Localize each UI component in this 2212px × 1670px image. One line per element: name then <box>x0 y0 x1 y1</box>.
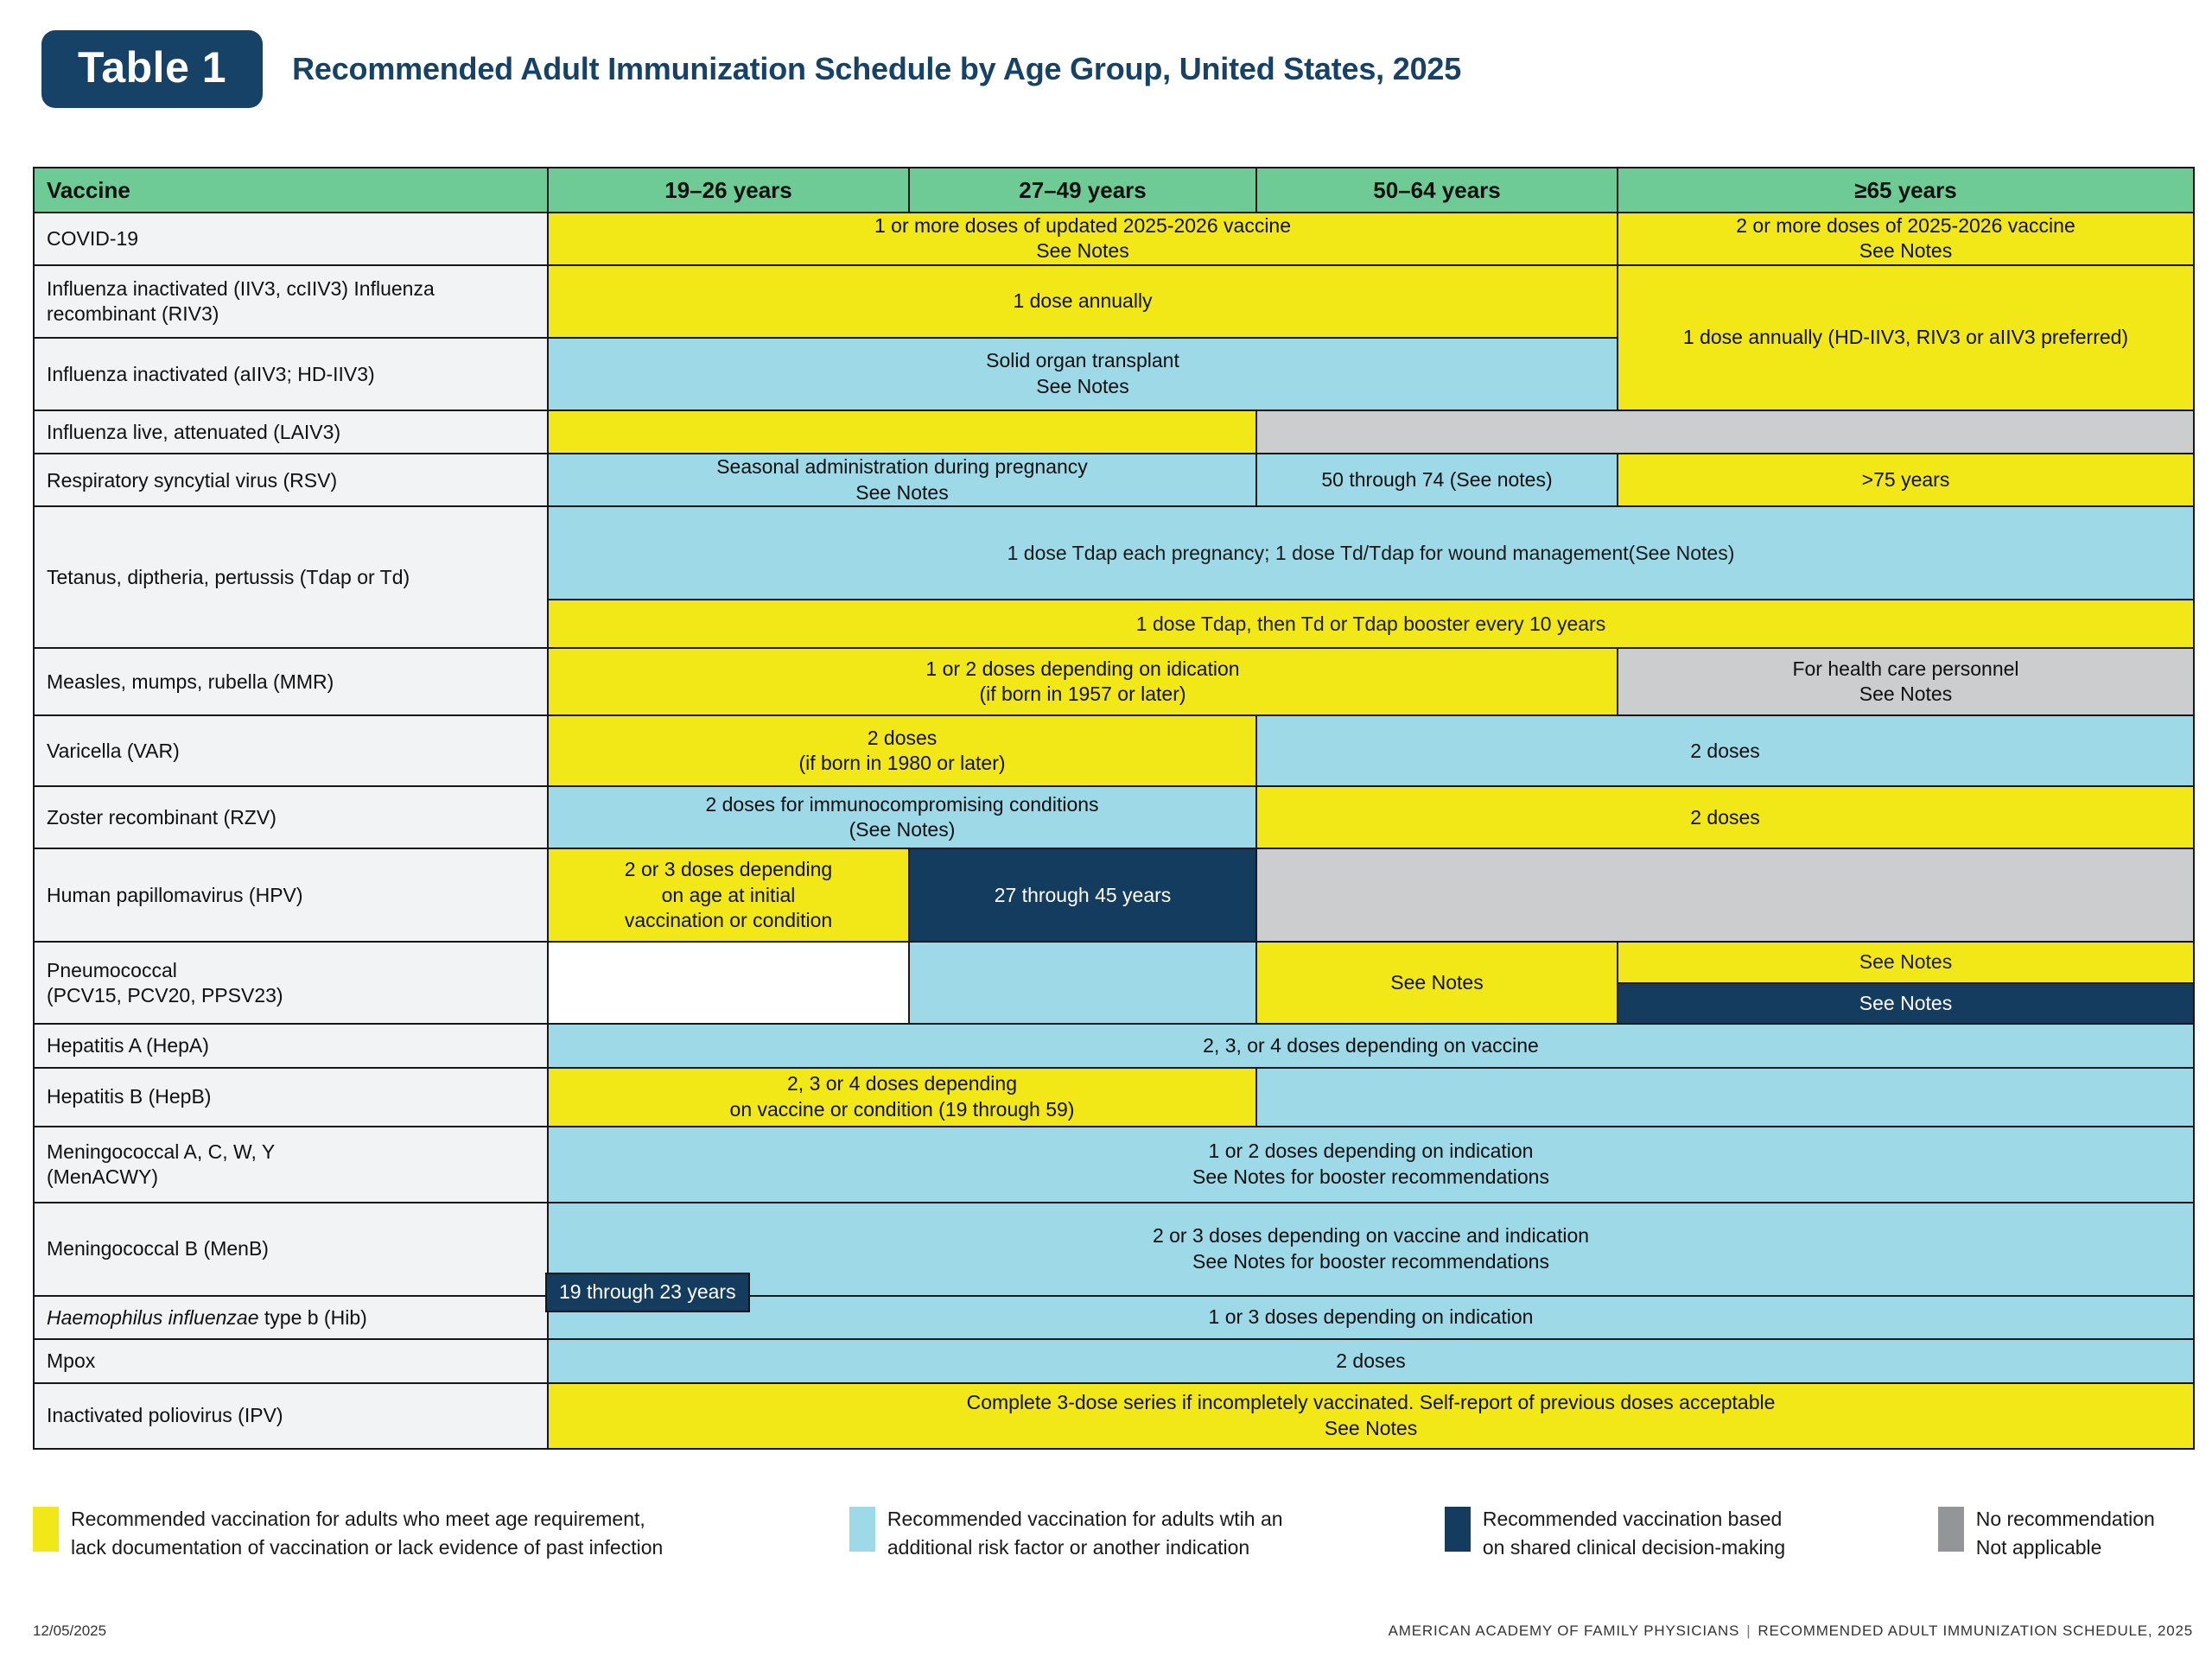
schedule-cell: 2 doses(if born in 1980 or later) <box>548 715 1256 786</box>
legend-navy-line2: on shared clinical decision-making <box>1483 1533 1785 1562</box>
legend-item-yellow: Recommended vaccination for adults who m… <box>33 1505 849 1561</box>
schedule-cell: See Notes <box>1256 942 1618 1024</box>
schedule-cell <box>1256 1068 2194 1127</box>
cell-text-line: See Notes <box>549 238 1617 264</box>
table-body: COVID-191 or more doses of updated 2025-… <box>34 213 2194 1449</box>
cell-text-line: For health care personnel <box>1618 657 2193 682</box>
legend-label-navy: Recommended vaccination based on shared … <box>1483 1505 1785 1561</box>
cell-text-line: >75 years <box>1618 467 2193 492</box>
vaccine-name-line: Mpox <box>47 1349 537 1374</box>
schedule-cell-top: See Notes <box>1618 943 2193 983</box>
table-row: Hepatitis B (HepB)2, 3 or 4 doses depend… <box>34 1068 2194 1127</box>
table-row: Measles, mumps, rubella (MMR)1 or 2 dose… <box>34 648 2194 715</box>
vaccine-name-cell: Varicella (VAR) <box>34 715 548 786</box>
cell-text-line: 1 or 2 doses depending on indication <box>549 1139 2193 1164</box>
schedule-cell: 2 doses <box>548 1339 2194 1383</box>
legend-navy-line1: Recommended vaccination based <box>1483 1505 1785 1533</box>
vaccine-name-line: Influenza inactivated (aIIV3; HD-IIV3) <box>47 362 537 387</box>
legend: Recommended vaccination for adults who m… <box>33 1505 2193 1561</box>
schedule-cell: 2 or 3 doses dependingon age at initialv… <box>548 848 909 942</box>
legend-gray-line1: No recommendation <box>1976 1505 2155 1533</box>
schedule-cell: 1 or 2 doses depending on idication(if b… <box>548 648 1618 715</box>
vaccine-name-cell: Mpox <box>34 1339 548 1383</box>
table-header-row: Vaccine 19–26 years 27–49 years 50–64 ye… <box>34 168 2194 213</box>
legend-label-gray: No recommendation Not applicable <box>1976 1505 2155 1561</box>
column-header-50-64: 50–64 years <box>1256 168 1618 213</box>
cell-text-line: Complete 3-dose series if incompletely v… <box>549 1390 2193 1415</box>
vaccine-name-line: Human papillomavirus (HPV) <box>47 883 537 908</box>
vaccine-name-line: Tetanus, diptheria, pertussis (Tdap or T… <box>47 565 537 590</box>
table-number-badge: Table 1 <box>41 30 263 108</box>
legend-item-blue: Recommended vaccination for adults wtih … <box>849 1505 1445 1561</box>
table-row: Influenza inactivated (IIV3, ccIIV3) Inf… <box>34 265 2194 338</box>
vaccine-name-cell: Meningococcal A, C, W, Y(MenACWY) <box>34 1127 548 1203</box>
table-row: COVID-191 or more doses of updated 2025-… <box>34 213 2194 265</box>
cell-text-line: 27 through 45 years <box>910 883 1255 908</box>
cell-text-line: 50 through 74 (See notes) <box>1257 467 1617 492</box>
vaccine-name-line: Hepatitis B (HepB) <box>47 1084 537 1109</box>
page-header: Table 1 Recommended Adult Immunization S… <box>0 0 2212 112</box>
cell-text-line: See Notes <box>549 1416 2193 1441</box>
cell-text-line: 2 or 3 doses depending <box>549 857 908 882</box>
cell-text-line: (See Notes) <box>549 817 1255 842</box>
schedule-cell: For health care personnelSee Notes <box>1618 648 2194 715</box>
vaccine-name-cell: Meningococcal B (MenB) <box>34 1203 548 1296</box>
vaccine-name-cell: Influenza inactivated (aIIV3; HD-IIV3) <box>34 338 548 410</box>
cell-text-line: vaccination or condition <box>549 908 908 933</box>
schedule-cell: 1 or more doses of updated 2025-2026 vac… <box>548 213 1618 265</box>
schedule-cell-bottom: 1 dose Tdap, then Td or Tdap booster eve… <box>549 600 2193 647</box>
cell-text-line: (if born in 1957 or later) <box>549 682 1617 707</box>
schedule-cell <box>548 942 909 1024</box>
age-range-chip: 19 through 23 years <box>545 1273 750 1312</box>
cell-text-line: (if born in 1980 or later) <box>549 751 1255 776</box>
table-row: Inactivated poliovirus (IPV)Complete 3-d… <box>34 1383 2194 1449</box>
footer-separator: | <box>1746 1622 1751 1639</box>
cell-text-line: See Notes <box>1859 949 1952 975</box>
schedule-cell: 2 or 3 doses depending on vaccine and in… <box>548 1203 2194 1296</box>
footer-doc: RECOMMENDED ADULT IMMUNIZATION SCHEDULE,… <box>1758 1622 2193 1639</box>
footer-date: 12/05/2025 <box>33 1622 106 1640</box>
cell-text-line: 2 or more doses of 2025-2026 vaccine <box>1618 213 2193 238</box>
legend-blue-line2: additional risk factor or another indica… <box>887 1533 1283 1562</box>
vaccine-name-cell: Hepatitis B (HepB) <box>34 1068 548 1127</box>
table-row: Mpox2 doses <box>34 1339 2194 1383</box>
legend-swatch-navy-icon <box>1445 1507 1471 1552</box>
schedule-cell-split-65: See NotesSee Notes <box>1618 942 2194 1024</box>
footer-attribution: AMERICAN ACADEMY OF FAMILY PHYSICIANS|RE… <box>1389 1622 2193 1640</box>
cell-text-line: 1 dose annually <box>549 289 1617 314</box>
vaccine-name-line: COVID-19 <box>47 226 537 251</box>
legend-swatch-gray-icon <box>1938 1507 1964 1552</box>
schedule-cell: Complete 3-dose series if incompletely v… <box>548 1383 2194 1449</box>
vaccine-name-cell: Pneumococcal(PCV15, PCV20, PPSV23) <box>34 942 548 1024</box>
cell-text-line: See Notes <box>1618 238 2193 264</box>
vaccine-name-line: Hepatitis A (HepA) <box>47 1033 537 1058</box>
legend-swatch-blue-icon <box>849 1507 875 1552</box>
vaccine-name-rest: type b (Hib) <box>259 1306 367 1329</box>
table-row: Influenza live, attenuated (LAIV3) <box>34 410 2194 454</box>
column-header-vaccine: Vaccine <box>34 168 548 213</box>
cell-text-line: Seasonal administration during pregnancy <box>549 454 1255 479</box>
legend-yellow-line2: lack documentation of vaccination or lac… <box>71 1533 663 1562</box>
legend-label-blue: Recommended vaccination for adults wtih … <box>887 1505 1283 1561</box>
schedule-cell-top: 1 dose Tdap each pregnancy; 1 dose Td/Td… <box>549 507 2193 600</box>
immunization-schedule-table: Vaccine 19–26 years 27–49 years 50–64 ye… <box>33 167 2195 1450</box>
schedule-cell: 1 dose annually <box>548 265 1618 338</box>
cell-text-line: See Notes <box>1618 682 2193 707</box>
cell-text-line: See Notes <box>549 480 1255 505</box>
vaccine-name-cell: Influenza inactivated (IIV3, ccIIV3) Inf… <box>34 265 548 338</box>
vaccine-name-cell: Influenza live, attenuated (LAIV3) <box>34 410 548 454</box>
cell-text-line: 2 doses for immunocompromising condition… <box>549 792 1255 817</box>
cell-text-line: 1 dose annually (HD-IIV3, RIV3 or aIIV3 … <box>1618 325 2193 350</box>
cell-text-line: See Notes for booster recommendations <box>1192 1249 1549 1274</box>
schedule-cell: 1 or 3 doses depending on indication <box>548 1296 2194 1340</box>
table-row: Respiratory syncytial virus (RSV)Seasona… <box>34 454 2194 506</box>
schedule-cell <box>1256 848 2194 942</box>
vaccine-name-line: (MenACWY) <box>47 1165 537 1190</box>
schedule-cell: 50 through 74 (See notes) <box>1256 454 1618 506</box>
vaccine-name-line: Meningococcal A, C, W, Y <box>47 1140 537 1165</box>
schedule-cell: 2 doses <box>1256 786 2194 848</box>
schedule-cell: 1 dose annually (HD-IIV3, RIV3 or aIIV3 … <box>1618 265 2194 410</box>
table-row: Varicella (VAR)2 doses(if born in 1980 o… <box>34 715 2194 786</box>
legend-label-yellow: Recommended vaccination for adults who m… <box>71 1505 663 1561</box>
vaccine-name-line: Meningococcal B (MenB) <box>47 1236 537 1261</box>
cell-text-line: See Notes <box>549 374 1617 399</box>
table-row: Meningococcal A, C, W, Y(MenACWY)1 or 2 … <box>34 1127 2194 1203</box>
vaccine-name-italic: Haemophilus influenzae <box>47 1306 259 1329</box>
cell-text-line: 1 or more doses of updated 2025-2026 vac… <box>549 213 1617 238</box>
column-header-27-49: 27–49 years <box>909 168 1256 213</box>
cell-text-line: 1 or 3 doses depending on indication <box>549 1305 2193 1330</box>
page-title: Recommended Adult Immunization Schedule … <box>292 51 1461 87</box>
cell-text-line: 2, 3 or 4 doses depending <box>549 1071 1255 1096</box>
legend-item-gray: No recommendation Not applicable <box>1938 1505 2193 1561</box>
schedule-cell: 2 or more doses of 2025-2026 vaccineSee … <box>1618 213 2194 265</box>
vaccine-name-line: Zoster recombinant (RZV) <box>47 805 537 830</box>
cell-text-line: on vaccine or condition (19 through 59) <box>549 1097 1255 1122</box>
table-row: Meningococcal B (MenB)2 or 3 doses depen… <box>34 1203 2194 1296</box>
footer-org: AMERICAN ACADEMY OF FAMILY PHYSICIANS <box>1389 1622 1740 1639</box>
column-header-65plus: ≥65 years <box>1618 168 2194 213</box>
cell-text-line: on age at initial <box>549 883 908 908</box>
cell-text-line: See Notes <box>1257 970 1617 995</box>
vaccine-name-line: (PCV15, PCV20, PPSV23) <box>47 983 537 1008</box>
legend-blue-line1: Recommended vaccination for adults wtih … <box>887 1505 1283 1533</box>
schedule-cell <box>1256 410 2194 454</box>
cell-text-line: 1 dose Tdap each pregnancy; 1 dose Td/Td… <box>1007 541 1629 566</box>
schedule-cell <box>548 410 1256 454</box>
vaccine-name-cell: COVID-19 <box>34 213 548 265</box>
legend-yellow-line1: Recommended vaccination for adults who m… <box>71 1505 663 1533</box>
schedule-cell: Solid organ transplantSee Notes <box>548 338 1618 410</box>
table-row: Haemophilus influenzae type b (Hib)1 or … <box>34 1296 2194 1340</box>
cell-text-line: See Notes for booster recommendations <box>549 1165 2193 1190</box>
schedule-cell: >75 years <box>1618 454 2194 506</box>
vaccine-name-line: Influenza inactivated (IIV3, ccIIV3) Inf… <box>47 276 537 326</box>
schedule-cell: Seasonal administration during pregnancy… <box>548 454 1256 506</box>
cell-text-line: (See Notes) <box>1629 541 1735 566</box>
schedule-cell: 2, 3, or 4 doses depending on vaccine <box>548 1024 2194 1068</box>
schedule-cell: 2 doses for immunocompromising condition… <box>548 786 1256 848</box>
cell-text-line: 1 dose Tdap, then Td or Tdap booster eve… <box>1136 612 1605 637</box>
cell-text-line: 2 doses <box>1257 739 2193 764</box>
cell-text-line: 2 doses <box>1257 805 2193 830</box>
legend-swatch-yellow-icon <box>33 1507 59 1552</box>
column-header-19-26: 19–26 years <box>548 168 909 213</box>
legend-item-navy: Recommended vaccination based on shared … <box>1445 1505 1938 1561</box>
vaccine-name-line: Respiratory syncytial virus (RSV) <box>47 468 537 493</box>
vaccine-name-cell: Zoster recombinant (RZV) <box>34 786 548 848</box>
schedule-cell: 2, 3 or 4 doses dependingon vaccine or c… <box>548 1068 1256 1127</box>
cell-text-line: 2 doses <box>549 726 1255 751</box>
cell-text-line: Solid organ transplant <box>549 348 1617 373</box>
vaccine-name-cell: Measles, mumps, rubella (MMR) <box>34 648 548 715</box>
vaccine-name-cell: Inactivated poliovirus (IPV) <box>34 1383 548 1449</box>
cell-text-line: 2 or 3 doses depending on vaccine and in… <box>1153 1223 1589 1248</box>
vaccine-name-cell: Human papillomavirus (HPV) <box>34 848 548 942</box>
vaccine-name-line: Pneumococcal <box>47 958 537 983</box>
vaccine-name-line: Inactivated poliovirus (IPV) <box>47 1403 537 1428</box>
schedule-cell: 2 doses <box>1256 715 2194 786</box>
table-row: Tetanus, diptheria, pertussis (Tdap or T… <box>34 506 2194 648</box>
schedule-cell-bottom: See Notes <box>1618 984 2193 1023</box>
vaccine-name-cell: Hepatitis A (HepA) <box>34 1024 548 1068</box>
table-row: Hepatitis A (HepA)2, 3, or 4 doses depen… <box>34 1024 2194 1068</box>
table-row: Zoster recombinant (RZV)2 doses for immu… <box>34 786 2194 848</box>
schedule-cell: 1 or 2 doses depending on indicationSee … <box>548 1127 2194 1203</box>
vaccine-name-line: Influenza live, attenuated (LAIV3) <box>47 420 537 445</box>
table-row: Pneumococcal(PCV15, PCV20, PPSV23)See No… <box>34 942 2194 1024</box>
schedule-cell: 27 through 45 years <box>909 848 1256 942</box>
cell-text-line: 2 doses <box>549 1349 2193 1374</box>
cell-text-line: 2, 3, or 4 doses depending on vaccine <box>549 1033 2193 1058</box>
cell-text-line: See Notes <box>1859 991 1952 1016</box>
vaccine-name-cell: Haemophilus influenzae type b (Hib) <box>34 1296 548 1340</box>
vaccine-name-cell: Respiratory syncytial virus (RSV) <box>34 454 548 506</box>
page-footer: 12/05/2025 AMERICAN ACADEMY OF FAMILY PH… <box>33 1622 2193 1640</box>
schedule-cell-split: 1 dose Tdap each pregnancy; 1 dose Td/Td… <box>548 506 2194 648</box>
vaccine-name-line: Varicella (VAR) <box>47 739 537 764</box>
schedule-cell <box>909 942 1256 1024</box>
vaccine-name-cell: Tetanus, diptheria, pertussis (Tdap or T… <box>34 506 548 648</box>
cell-text-line: 1 or 2 doses depending on idication <box>549 657 1617 682</box>
legend-gray-line2: Not applicable <box>1976 1533 2155 1562</box>
table-row: Human papillomavirus (HPV)2 or 3 doses d… <box>34 848 2194 942</box>
vaccine-name-line: Measles, mumps, rubella (MMR) <box>47 670 537 695</box>
